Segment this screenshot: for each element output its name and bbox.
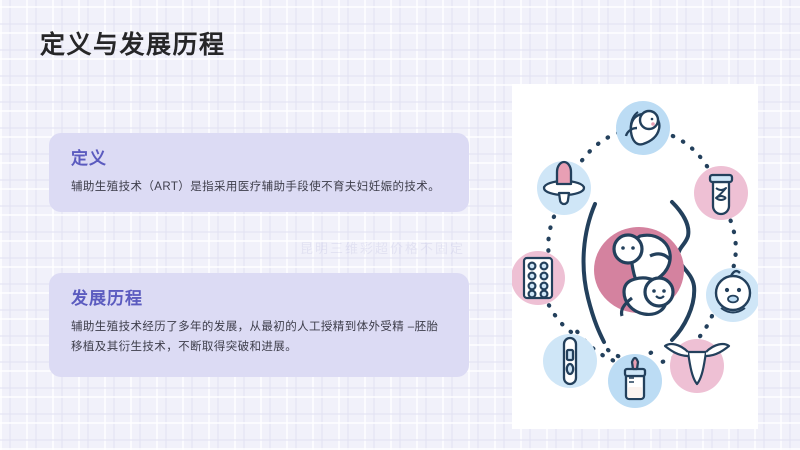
card-definition-heading: 定义 [71, 147, 449, 171]
card-definition-body: 辅助生殖技术（ART）是指采用医疗辅助手段使不育夫妇妊娠的技术。 [71, 177, 449, 197]
card-history: 发展历程 辅助生殖技术经历了多年的发展，从最初的人工授精到体外受精 –胚胎移植及… [49, 273, 469, 377]
illustration-panel [512, 84, 758, 429]
baby-bottle-icon [608, 354, 662, 408]
card-history-heading: 发展历程 [71, 287, 449, 311]
uterus-icon [665, 339, 729, 393]
fertility-cycle-illustration [512, 84, 758, 429]
page-title: 定义与发展历程 [40, 28, 226, 62]
card-history-body: 辅助生殖技术经历了多年的发展，从最初的人工授精到体外受精 –胚胎移植及其衍生技术… [71, 317, 449, 357]
pregnancy-test-icon [543, 334, 597, 388]
test-tube-dna-icon [694, 166, 748, 220]
card-definition: 定义 辅助生殖技术（ART）是指采用医疗辅助手段使不育夫妇妊娠的技术。 [49, 133, 469, 212]
baby-face-icon [706, 268, 758, 322]
watermark-text: 昆明三维彩超价格不固定 [300, 240, 465, 258]
fetus-icon [616, 101, 670, 155]
pacifier-icon [537, 161, 591, 215]
slide-canvas: 定义与发展历程 定义 辅助生殖技术（ART）是指采用医疗辅助手段使不育夫妇妊娠的… [0, 0, 800, 450]
pill-blister-pack-icon [512, 251, 565, 305]
